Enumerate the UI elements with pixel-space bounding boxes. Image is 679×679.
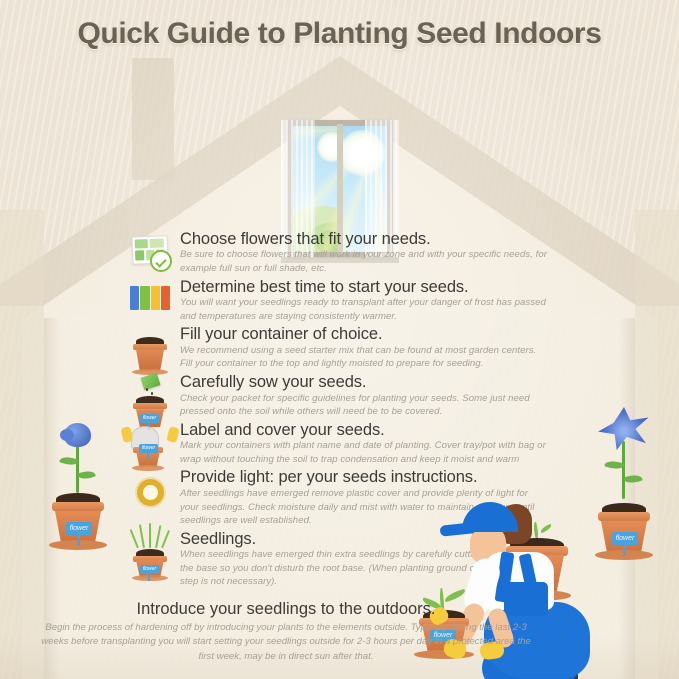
step-item: Fill your container of choice. We recomm… [128, 325, 548, 371]
step-text: Carefully sow your seeds. Check your pac… [180, 373, 548, 419]
seasons-calendar-icon [128, 280, 172, 326]
infographic-poster: Quick Guide to Planting Seed Indoors flo… [0, 0, 679, 679]
plant-stem [622, 441, 625, 499]
step-body: We recommend using a seed starter mix th… [180, 344, 548, 371]
calendar-panel-winter [130, 286, 139, 310]
step-heading: Fill your container of choice. [180, 325, 548, 343]
terracotta-pot [136, 349, 164, 371]
seed-packet-sowing-icon: flower [128, 375, 172, 427]
sprout-leaf [540, 524, 553, 533]
footer-body: Begin the process of hardening off by in… [36, 621, 536, 664]
calendar-panel-spring [140, 286, 149, 310]
flower-petal [60, 429, 74, 441]
filled-pot-icon [128, 327, 172, 373]
light-ring-icon [128, 470, 172, 516]
step-text: Choose flowers that fit your needs. Be s… [180, 230, 548, 276]
step-item: flower Carefully sow your seeds. Check y… [128, 373, 548, 419]
calendar-panel-summer [151, 286, 160, 310]
page-title: Quick Guide to Planting Seed Indoors [0, 17, 679, 51]
pot-label-tag: flower [66, 522, 92, 535]
step-text: Determine best time to start your seeds.… [180, 278, 548, 324]
pot-label-tag: flower [139, 444, 158, 453]
step-heading: Provide light: per your seeds instructio… [180, 468, 548, 486]
glove-icon-right [166, 426, 179, 443]
footer-section: Introduce your seedlings to the outdoors… [36, 600, 536, 664]
step-heading: Choose flowers that fit your needs. [180, 230, 548, 248]
pot-label-tag: flower [140, 565, 159, 574]
step-body: Mark your containers with plant name and… [180, 439, 548, 466]
step-body: You will want your seedlings ready to tr… [180, 296, 548, 323]
footer-heading: Introduce your seedlings to the outdoors… [36, 600, 536, 619]
step-item: Determine best time to start your seeds.… [128, 278, 548, 324]
check-badge-icon [150, 250, 172, 272]
plant-leaf [623, 473, 643, 486]
step-heading: Carefully sow your seeds. [180, 373, 548, 391]
pot-rim [133, 403, 167, 409]
ring-shape [137, 479, 164, 506]
pot-rim [52, 502, 104, 511]
calendar-panels [130, 286, 170, 310]
sprout-leaves [135, 522, 165, 548]
gloves-covering-pot-icon: flower [122, 423, 178, 469]
pot-saucer [132, 575, 168, 581]
step-heading: Determine best time to start your seeds. [180, 278, 548, 296]
calendar-panel-fall [161, 286, 170, 310]
step-text: Fill your container of choice. We recomm… [180, 325, 548, 371]
step-text: Label and cover your seeds. Mark your co… [180, 421, 548, 467]
step-item: Choose flowers that fit your needs. Be s… [128, 230, 548, 276]
cap-brim [440, 522, 475, 536]
left-potted-plant: flower [48, 415, 108, 545]
seed-catalog-icon [128, 232, 172, 278]
step-heading: Label and cover your seeds. [180, 421, 548, 439]
step-body: Be sure to choose flowers that will work… [180, 248, 548, 275]
seedlings-pot-icon: flower [128, 522, 172, 578]
plant-leaf [77, 469, 96, 482]
step-item: flower Label and cover your seeds. Mark … [128, 421, 548, 467]
step-body: Check your packet for specific guideline… [180, 392, 548, 419]
